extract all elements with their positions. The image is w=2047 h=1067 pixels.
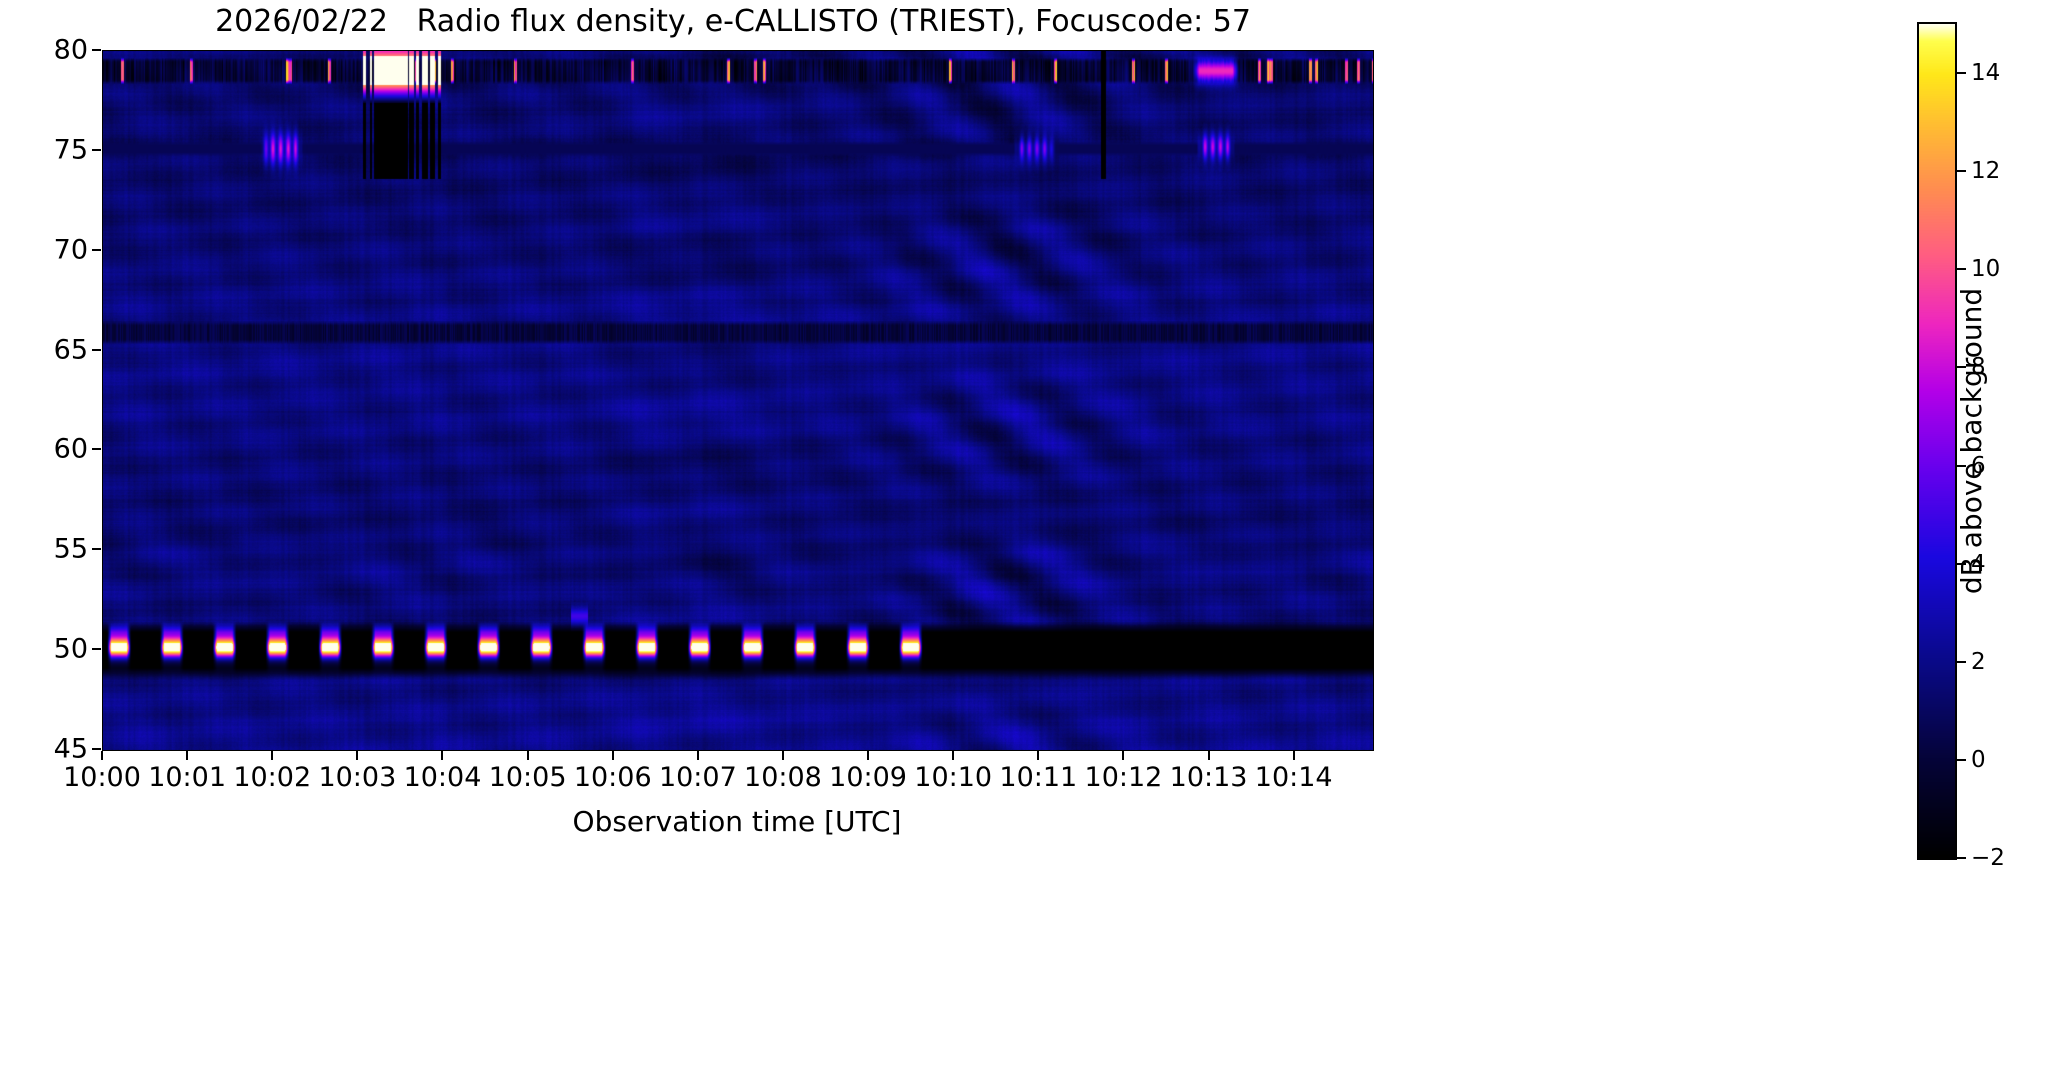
- x-axis-tick-mark: [1122, 751, 1124, 760]
- x-axis-tick-label: 10:01: [148, 762, 226, 793]
- x-axis-tick-label: 10:04: [404, 762, 482, 793]
- x-axis-tick-mark: [1208, 751, 1210, 760]
- x-axis-tick-label: 10:12: [1085, 762, 1163, 793]
- x-axis-tick-label: 10:14: [1255, 762, 1333, 793]
- x-axis-tick-mark: [1293, 751, 1295, 760]
- x-axis-tick-mark: [612, 751, 614, 760]
- x-axis-tick-label: 10:11: [999, 762, 1077, 793]
- x-axis-tick-mark: [952, 751, 954, 760]
- x-axis-tick-mark: [101, 751, 103, 760]
- x-axis-tick-mark: [1037, 751, 1039, 760]
- x-axis-tick-mark: [441, 751, 443, 760]
- x-axis-tick-mark: [527, 751, 529, 760]
- x-axis-tick-label: 10:02: [233, 762, 311, 793]
- x-axis-tick-label: 10:00: [63, 762, 141, 793]
- x-axis-tick-label: 10:06: [574, 762, 652, 793]
- colorbar-label: dB above background: [1955, 22, 1989, 860]
- x-axis-tick-mark: [186, 751, 188, 760]
- x-axis-tick-label: 10:03: [318, 762, 396, 793]
- x-axis-tick-label: 10:08: [744, 762, 822, 793]
- x-axis-tick-label: 10:05: [489, 762, 567, 793]
- x-axis-tick-label: 10:13: [1170, 762, 1248, 793]
- x-axis-tick-mark: [356, 751, 358, 760]
- figure-root: 2026/02/22 Radio flux density, e-CALLIST…: [0, 0, 2047, 1067]
- x-axis-tick-mark: [782, 751, 784, 760]
- x-axis-tick-mark: [271, 751, 273, 760]
- x-axis-tick-label: 10:09: [829, 762, 907, 793]
- x-axis-tick-label: 10:07: [659, 762, 737, 793]
- x-axis: 10:0010:0110:0210:0310:0410:0510:0610:07…: [0, 0, 2047, 1067]
- x-axis-tick-label: 10:10: [914, 762, 992, 793]
- x-axis-label: Observation time [UTC]: [102, 805, 1372, 838]
- colorbar-gradient: [1919, 24, 1955, 858]
- x-axis-tick-mark: [867, 751, 869, 760]
- x-axis-tick-mark: [697, 751, 699, 760]
- colorbar[interactable]: [1917, 22, 1957, 860]
